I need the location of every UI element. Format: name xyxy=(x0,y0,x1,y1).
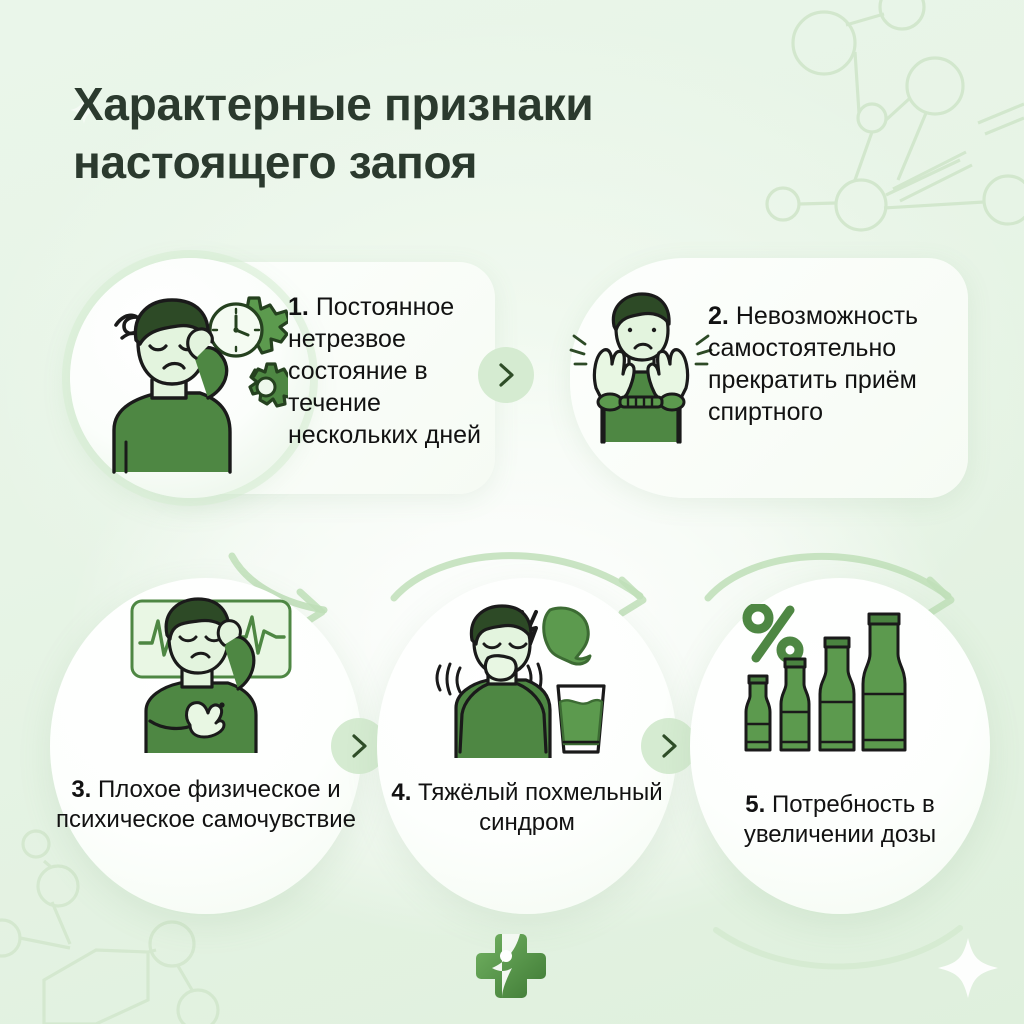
step-1-label: Постоянное нетрезвое состояние в течение… xyxy=(288,293,481,449)
step-4-number: 4. xyxy=(391,779,411,806)
step-3-text: 3. Плохое физическое и психическое самоч… xyxy=(56,775,356,835)
chevron-right-icon-3[interactable] xyxy=(641,718,697,774)
infographic-canvas: Характерные признаки настоящего запоя xyxy=(0,0,1024,1024)
step-1-number: 1. xyxy=(288,293,309,321)
man-chest-pain-ekg-icon xyxy=(124,593,304,753)
percent-symbol xyxy=(747,607,799,659)
page-title-line-1: Характерные признаки xyxy=(73,76,813,134)
step-2-text: 2. Невозможность самостоятельно прекрати… xyxy=(708,300,970,428)
page-title-line-2: настоящего запоя xyxy=(73,134,813,192)
step-1-text: 1. Постоянное нетрезвое состояние в тече… xyxy=(288,291,493,451)
step-5-label: Потребность в увеличении дозы xyxy=(744,791,936,848)
step-5-number: 5. xyxy=(745,791,765,818)
step-2-label: Невозможность самостоятельно прекратить … xyxy=(708,302,918,426)
chevron-right-glyph-2 xyxy=(346,731,372,761)
step-4-text: 4. Тяжёлый похмельный синдром xyxy=(382,778,672,838)
chevron-right-glyph xyxy=(493,360,519,390)
man-nausea-water-glass-icon xyxy=(430,600,610,758)
step-3-number: 3. xyxy=(71,776,91,803)
step-2-number: 2. xyxy=(708,302,729,330)
medical-cross-person-logo[interactable] xyxy=(472,928,550,1002)
sparkle-icon xyxy=(938,938,998,998)
chevron-right-icon-1[interactable] xyxy=(478,347,534,403)
page-title: Характерные признаки настоящего запоя xyxy=(73,76,813,192)
step-4-label: Тяжёлый похмельный синдром xyxy=(418,779,663,836)
bottles-percent-increase-icon xyxy=(742,604,914,756)
man-headache-clock-gears-icon xyxy=(92,280,288,476)
curved-flow-arrows-lower xyxy=(716,928,960,967)
step-5-text: 5. Потребность в увеличении дозы xyxy=(694,790,986,850)
chevron-right-glyph-3 xyxy=(656,731,682,761)
man-handcuffs-hands-up-icon xyxy=(566,292,716,444)
step-3-label: Плохое физическое и психическое самочувс… xyxy=(56,776,356,833)
